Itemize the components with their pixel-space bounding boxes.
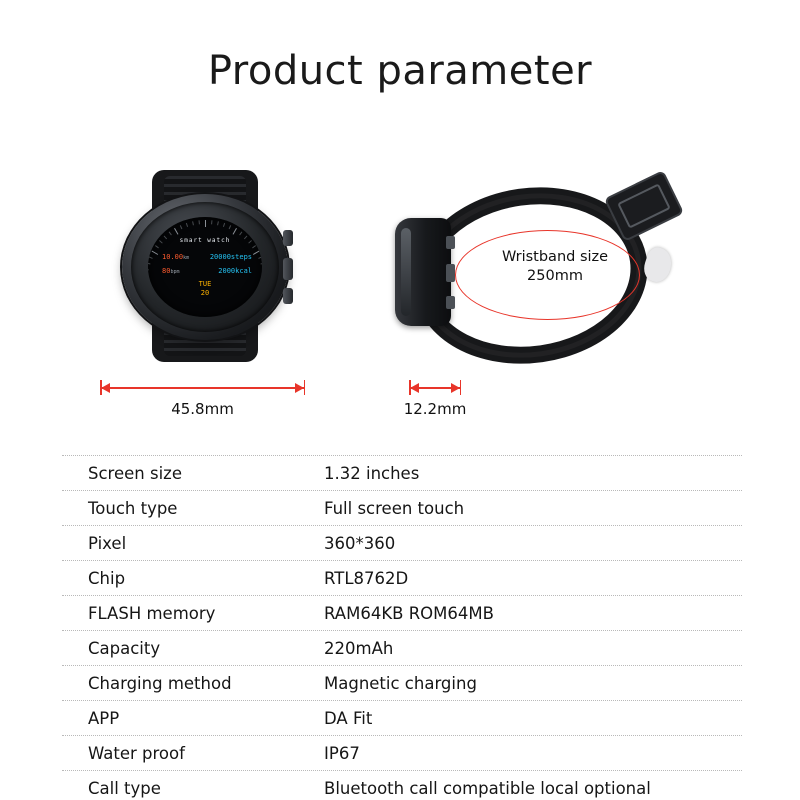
dial-tick: [223, 223, 225, 227]
dial-tick: [148, 262, 150, 264]
table-row: Call type Bluetooth call compatible loca…: [62, 771, 742, 800]
watch-crown-bottom: [283, 288, 293, 304]
spec-value: Full screen touch: [324, 498, 742, 519]
spec-value: RAM64KB ROM64MB: [324, 603, 742, 624]
dial-date-day: TUE: [199, 280, 212, 288]
dial-tick: [253, 309, 260, 313]
side-button-middle: [446, 264, 455, 282]
dial-tick: [258, 256, 262, 259]
dial-date-number: 20: [201, 289, 209, 297]
table-row: Screen size 1.32 inches: [62, 455, 742, 491]
table-row: FLASH memory RAM64KB ROM64MB: [62, 596, 742, 631]
dimension-width-front: 45.8mm: [100, 380, 305, 402]
dimension-thickness-side: 12.2mm: [409, 380, 461, 402]
dial-tick: [186, 223, 188, 227]
spec-label: Charging method: [62, 673, 324, 694]
product-parameter-page: Product parameter smart watch 10.00km: [0, 0, 800, 800]
dial-tick: [211, 220, 212, 224]
watch-bezel: smart watch 10.00km 80bpm 20000steps 200…: [131, 202, 279, 332]
spec-label: APP: [62, 708, 324, 729]
dial-metric-calories-value: 2000: [218, 267, 235, 275]
wristband-size-callout-line2: 250mm: [480, 267, 630, 286]
table-row: Capacity 220mAh: [62, 631, 742, 666]
watch-crown-top: [283, 230, 293, 246]
dimension-arrow-left-icon: [101, 383, 110, 393]
dimension-arrow-right-icon: [295, 383, 304, 393]
dimension-arrow-right-icon: [451, 383, 460, 393]
side-button-bottom: [446, 296, 455, 309]
dial-tick: [174, 228, 178, 235]
dial-metric-steps-value: 20000: [210, 253, 231, 261]
spec-label: Screen size: [62, 463, 324, 484]
dial-metric-steps: 20000steps: [210, 253, 252, 261]
spec-label: FLASH memory: [62, 603, 324, 624]
dial-tick: [149, 256, 153, 259]
dial-metric-distance-unit: km: [183, 255, 189, 261]
dial-metric-distance-value: 10.00: [162, 253, 183, 261]
spec-label: Chip: [62, 568, 324, 589]
dimension-thickness-label: 12.2mm: [404, 400, 467, 418]
dial-tick: [258, 305, 262, 308]
spec-value: Bluetooth call compatible local optional: [324, 778, 742, 799]
dial-metric-calories: 2000kcal: [218, 267, 252, 275]
specification-table: Screen size 1.32 inches Touch type Full …: [62, 455, 742, 800]
dial-tick: [199, 220, 200, 224]
dial-tick: [261, 299, 262, 301]
dial-metric-calories-unit: kcal: [235, 267, 252, 275]
watch-case: smart watch 10.00km 80bpm 20000steps 200…: [122, 194, 288, 340]
dial-tick: [152, 251, 159, 255]
dial-tick: [192, 221, 194, 225]
dial-tick: [252, 316, 256, 317]
spec-label: Call type: [62, 778, 324, 799]
dial-tick: [148, 294, 149, 296]
dial-metric-heartrate-unit: bpm: [170, 269, 179, 275]
product-diagram: smart watch 10.00km 80bpm 20000steps 200…: [0, 170, 800, 450]
dial-brand-label: smart watch: [148, 237, 262, 244]
dial-tick: [148, 299, 150, 301]
dial-tick: [252, 245, 256, 248]
spec-label: Capacity: [62, 638, 324, 659]
dimension-width-label: 45.8mm: [171, 400, 234, 418]
table-row: APP DA Fit: [62, 701, 742, 736]
dial-tick: [261, 282, 263, 283]
dial-tick: [148, 282, 151, 283]
dial-metric-steps-unit: steps: [231, 253, 252, 261]
spec-value: RTL8762D: [324, 568, 742, 589]
table-row: Charging method Magnetic charging: [62, 666, 742, 701]
table-row: Chip RTL8762D: [62, 561, 742, 596]
dial-tick: [217, 221, 219, 225]
page-title: Product parameter: [0, 48, 800, 94]
spec-label: Water proof: [62, 743, 324, 764]
dimension-line: [100, 387, 305, 389]
dial-date: TUE 20: [199, 280, 212, 298]
spec-value: 220mAh: [324, 638, 742, 659]
dial-metric-distance: 10.00km: [162, 253, 189, 261]
dial-tick: [180, 225, 183, 229]
wristband-size-callout-line1: Wristband size: [480, 248, 630, 267]
spec-value: DA Fit: [324, 708, 742, 729]
spec-label: Touch type: [62, 498, 324, 519]
dial-tick: [205, 220, 206, 227]
dial-tick: [149, 305, 153, 308]
table-row: Pixel 360*360: [62, 526, 742, 561]
table-row: Touch type Full screen touch: [62, 491, 742, 526]
table-row: Water proof IP67: [62, 736, 742, 771]
dial-metric-heartrate: 80bpm: [162, 267, 179, 275]
side-button-top: [446, 236, 455, 249]
watch-crown-middle: [283, 258, 293, 280]
spec-value: Magnetic charging: [324, 673, 742, 694]
dial-tick: [169, 232, 172, 236]
dial-tick: [155, 245, 159, 248]
spec-value: IP67: [324, 743, 742, 764]
dial-tick: [152, 309, 159, 313]
dial-tick: [229, 225, 232, 229]
dial-tick: [253, 251, 260, 255]
dial-tick: [261, 262, 262, 264]
watch-screen: smart watch 10.00km 80bpm 20000steps 200…: [148, 217, 262, 317]
spec-value: 1.32 inches: [324, 463, 742, 484]
wristband-size-callout: Wristband size 250mm: [480, 248, 630, 286]
dimension-arrow-left-icon: [410, 383, 419, 393]
dial-tick: [148, 269, 149, 271]
spec-value: 360*360: [324, 533, 742, 554]
spec-label: Pixel: [62, 533, 324, 554]
dial-tick: [233, 228, 237, 235]
watch-front-view: smart watch 10.00km 80bpm 20000steps 200…: [100, 170, 310, 360]
dial-tick: [155, 316, 159, 317]
watch-case-side: [395, 218, 451, 326]
dial-tick: [239, 232, 242, 236]
